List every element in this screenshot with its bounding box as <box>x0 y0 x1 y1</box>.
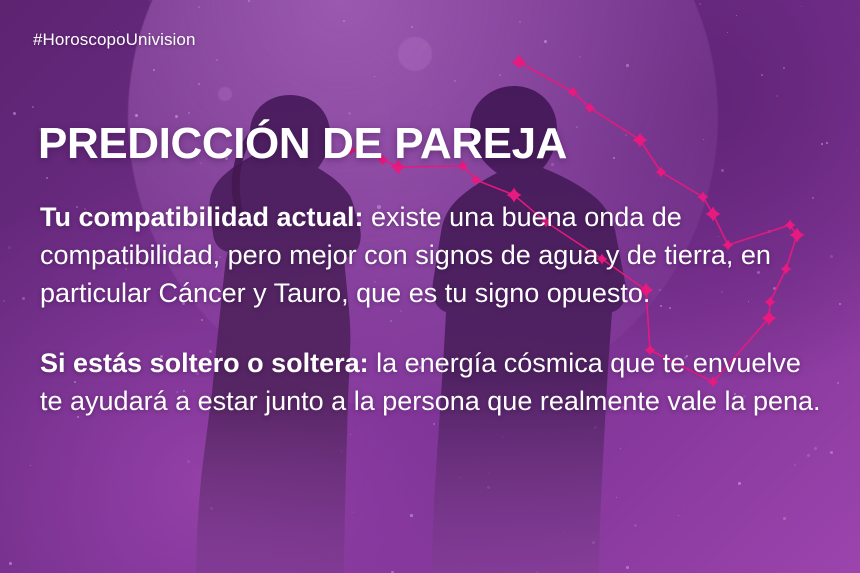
content-layer: #HoroscopoUnivision PREDICCIÓN DE PAREJA… <box>0 0 860 573</box>
hashtag-label: #HoroscopoUnivision <box>33 30 196 50</box>
page-title: PREDICCIÓN DE PAREJA <box>38 122 567 166</box>
paragraph-compatibility: Tu compatibilidad actual: existe una bue… <box>40 198 830 312</box>
paragraph-lead: Si estás soltero o soltera: <box>40 348 369 378</box>
body-text-block: Tu compatibilidad actual: existe una bue… <box>40 198 830 420</box>
paragraph-lead: Tu compatibilidad actual: <box>40 202 364 232</box>
horoscope-card: #HoroscopoUnivision PREDICCIÓN DE PAREJA… <box>0 0 860 573</box>
paragraph-single: Si estás soltero o soltera: la energía c… <box>40 344 830 420</box>
